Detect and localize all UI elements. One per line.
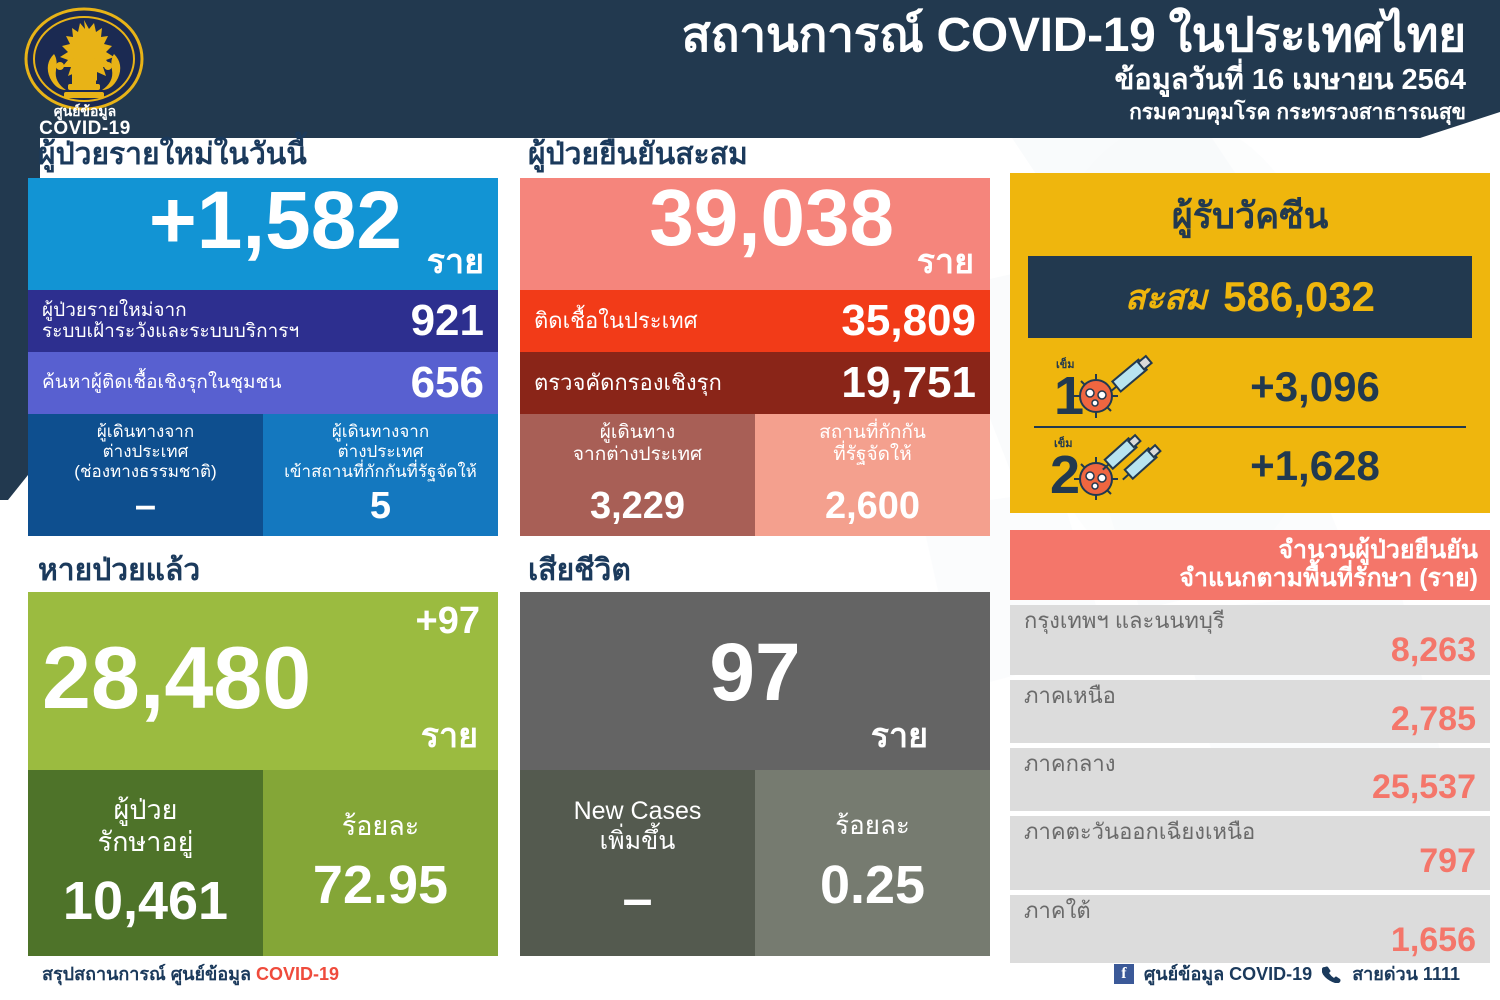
cumulative-domestic-row: ติดเชื้อในประเทศ 35,809 xyxy=(520,290,990,352)
recovered-percent-cell: ร้อยละ 72.95 xyxy=(263,770,498,956)
cumulative-domestic-label: ติดเชื้อในประเทศ xyxy=(534,309,698,334)
region-value: 1,656 xyxy=(1024,923,1476,959)
footer-summary-text: สรุปสถานการณ์ ศูนย์ข้อมูล xyxy=(42,964,256,984)
deaths-unit: ราย xyxy=(871,708,928,762)
vaccination-total-bar: สะสม 586,032 xyxy=(1028,256,1472,338)
deaths-value: 97 xyxy=(520,634,990,712)
label-line-2: เพิ่มขึ้น xyxy=(574,826,702,856)
region-value: 8,263 xyxy=(1024,633,1476,669)
new-cases-active-row: ค้นหาผู้ติดเชื้อเชิงรุกในชุมชน 656 xyxy=(28,352,498,414)
label-line-3: เข้าสถานที่กักกันที่รัฐจัดให้ xyxy=(284,462,477,482)
vaccination-dose1-value: +3,096 xyxy=(1164,363,1466,411)
page-title: สถานการณ์ COVID-19 ในประเทศไทย xyxy=(681,10,1466,62)
arrivals-natural-label: ผู้เดินทางจาก ต่างประเทศ (ช่องทางธรรมชาต… xyxy=(74,422,216,482)
new-cases-surveillance-label: ผู้ป่วยรายใหม่จาก ระบบเฝ้าระวังและระบบบร… xyxy=(42,300,299,343)
emblem-caption: ศูนย์ข้อมูล COVID-19 xyxy=(14,104,156,140)
cumulative-quarantine-cell: สถานที่กักกัน ที่รัฐจัดให้ 2,600 xyxy=(755,414,990,536)
currently-treating-cell: ผู้ป่วย รักษาอยู่ 10,461 xyxy=(28,770,263,956)
vaccination-dose1-row: เข็ม 1 +3,096 xyxy=(1034,348,1466,426)
new-cases-active-value: 656 xyxy=(411,361,484,405)
label-line-1: ผู้ป่วยรายใหม่จาก xyxy=(42,300,299,321)
label-line-2: จากต่างประเทศ xyxy=(573,444,702,466)
cumulative-quarantine-label: สถานที่กักกัน ที่รัฐจัดให้ xyxy=(819,422,926,467)
cumulative-quarantine-value: 2,600 xyxy=(825,485,920,528)
recovered-value: 28,480 xyxy=(42,636,311,720)
region-row: ภาคกลาง 25,537 xyxy=(1010,748,1490,811)
label-line-2: ต่างประเทศ xyxy=(74,442,216,462)
deaths-new-label: New Cases เพิ่มขึ้น xyxy=(574,796,702,856)
new-cases-surveillance-row: ผู้ป่วยรายใหม่จาก ระบบเฝ้าระวังและระบบบร… xyxy=(28,290,498,352)
region-row: กรุงเทพฯ และนนทบุรี 8,263 xyxy=(1010,605,1490,675)
deaths-percent-value: 0.25 xyxy=(820,854,925,916)
recovered-delta: +97 xyxy=(416,600,480,643)
cumulative-value: 39,038 xyxy=(649,180,894,256)
emblem-caption-line2: COVID-19 xyxy=(14,119,156,140)
cumulative-arrivals-cell: ผู้เดินทาง จากต่างประเทศ 3,229 xyxy=(520,414,755,536)
cumulative-domestic-value: 35,809 xyxy=(841,299,976,343)
recovered-unit: ราย xyxy=(421,708,478,762)
footer-summary: สรุปสถานการณ์ ศูนย์ข้อมูล COVID-19 xyxy=(42,959,339,988)
label-line-2: ระบบเฝ้าระวังและระบบบริการฯ xyxy=(42,321,299,342)
arrivals-quarantine-label: ผู้เดินทางจาก ต่างประเทศ เข้าสถานที่กักก… xyxy=(284,422,477,482)
new-cases-hero: +1,582 ราย xyxy=(28,178,498,290)
facebook-icon[interactable]: f xyxy=(1114,964,1134,984)
vaccination-total-value: 586,032 xyxy=(1223,273,1375,321)
regional-header-line-2: จำแนกตามพื้นที่รักษา (ราย) xyxy=(1022,564,1478,592)
deaths-hero: 97 ราย xyxy=(520,592,990,770)
deaths-new-cell: New Cases เพิ่มขึ้น – xyxy=(520,770,755,956)
recovered-percent-value: 72.95 xyxy=(313,854,448,916)
deaths-caption: เสียชีวิต xyxy=(528,556,631,586)
recovered-hero: +97 28,480 ราย xyxy=(28,592,498,770)
currently-treating-value: 10,461 xyxy=(63,870,228,932)
cumulative-arrivals-label: ผู้เดินทาง จากต่างประเทศ xyxy=(573,422,702,467)
svg-text:2: 2 xyxy=(1050,445,1080,501)
footer-summary-brand: COVID-19 xyxy=(256,964,339,984)
cumulative-unit: ราย xyxy=(917,234,974,288)
deaths-percent-label: ร้อยละ xyxy=(835,810,910,841)
vaccination-total-label: สะสม xyxy=(1125,270,1207,324)
label-line-1: New Cases xyxy=(574,796,702,826)
issuing-organization: กรมควบคุมโรค กระทรวงสาธารณสุข xyxy=(681,100,1466,126)
arrivals-natural-value: – xyxy=(135,485,156,528)
label-line-1: สถานที่กักกัน xyxy=(819,422,926,444)
footer-contacts: f ศูนย์ข้อมูล COVID-19 สายด่วน 1111 xyxy=(1114,959,1460,988)
cumulative-hero: 39,038 ราย xyxy=(520,178,990,290)
new-cases-unit: ราย xyxy=(427,234,484,288)
label-line-1: ผู้เดินทางจาก xyxy=(74,422,216,442)
recovered-caption: หายป่วยแล้ว xyxy=(38,556,200,586)
cumulative-screening-label: ตรวจคัดกรองเชิงรุก xyxy=(534,371,722,396)
vaccination-dose2-value: +1,628 xyxy=(1164,442,1466,490)
header-title-block: สถานการณ์ COVID-19 ในประเทศไทย ข้อมูลวัน… xyxy=(681,10,1466,126)
cumulative-arrivals-value: 3,229 xyxy=(590,485,685,528)
arrivals-quarantine-value: 5 xyxy=(370,485,391,528)
garuda-emblem-icon xyxy=(24,6,144,112)
report-date: ข้อมูลวันที่ 16 เมษายน 2564 xyxy=(681,63,1466,98)
deaths-percent-cell: ร้อยละ 0.25 xyxy=(755,770,990,956)
deaths-new-value: – xyxy=(622,868,652,930)
cumulative-caption: ผู้ป่วยยืนยันสะสม xyxy=(528,140,748,170)
regional-header-line-1: จำนวนผู้ป่วยยืนยัน xyxy=(1022,536,1478,564)
region-row: ภาคเหนือ 2,785 xyxy=(1010,680,1490,743)
region-name: ภาคใต้ xyxy=(1024,899,1476,923)
label-line-1: ผู้เดินทาง xyxy=(573,422,702,444)
new-cases-surveillance-value: 921 xyxy=(411,299,484,343)
hotline-label[interactable]: สายด่วน 1111 xyxy=(1352,959,1460,988)
facebook-page-label[interactable]: ศูนย์ข้อมูล COVID-19 xyxy=(1144,959,1312,988)
new-cases-caption: ผู้ป่วยรายใหม่ในวันนี้ xyxy=(38,140,307,170)
new-cases-arrivals-natural: ผู้เดินทางจาก ต่างประเทศ (ช่องทางธรรมชาต… xyxy=(28,414,263,536)
label-line-2: ต่างประเทศ xyxy=(284,442,477,462)
region-value: 797 xyxy=(1024,844,1476,880)
label-line-3: (ช่องทางธรรมชาติ) xyxy=(74,462,216,482)
region-name: ภาคตะวันออกเฉียงเหนือ xyxy=(1024,820,1476,844)
regional-breakdown-header: จำนวนผู้ป่วยยืนยัน จำแนกตามพื้นที่รักษา … xyxy=(1010,530,1490,600)
dose-1-syringe-virus-icon: เข็ม 1 xyxy=(1034,352,1164,422)
label-line-2: ที่รัฐจัดให้ xyxy=(819,444,926,466)
vaccination-title: ผู้รับวัคซีน xyxy=(1010,173,1490,244)
label-line-1: ผู้ป่วย xyxy=(98,794,194,826)
regional-breakdown-panel: จำนวนผู้ป่วยยืนยัน จำแนกตามพื้นที่รักษา … xyxy=(1010,530,1490,955)
region-name: กรุงเทพฯ และนนทบุรี xyxy=(1024,609,1476,633)
new-cases-arrivals-quarantine: ผู้เดินทางจาก ต่างประเทศ เข้าสถานที่กักก… xyxy=(263,414,498,536)
cumulative-screening-value: 19,751 xyxy=(841,361,976,405)
recovered-percent-label: ร้อยละ xyxy=(342,810,420,842)
dose-2-syringe-virus-icon: เข็ม 2 xyxy=(1034,431,1164,501)
region-row: ภาคใต้ 1,656 xyxy=(1010,895,1490,963)
infographic-page: ศูนย์ข้อมูล COVID-19 สถานการณ์ COVID-19 … xyxy=(0,0,1500,1000)
label-line-1: ผู้เดินทางจาก xyxy=(284,422,477,442)
new-cases-active-label: ค้นหาผู้ติดเชื้อเชิงรุกในชุมชน xyxy=(42,372,281,393)
label-line-2: รักษาอยู่ xyxy=(98,826,194,858)
vaccination-panel: ผู้รับวัคซีน สะสม 586,032 เข็ม 1 xyxy=(1010,173,1490,513)
phone-icon xyxy=(1322,965,1342,983)
new-cases-value: +1,582 xyxy=(149,182,402,260)
region-row: ภาคตะวันออกเฉียงเหนือ 797 xyxy=(1010,816,1490,890)
vaccination-dose2-row: เข็ม 2 xyxy=(1034,426,1466,504)
emblem-caption-line1: ศูนย์ข้อมูล xyxy=(14,104,156,119)
cumulative-screening-row: ตรวจคัดกรองเชิงรุก 19,751 xyxy=(520,352,990,414)
currently-treating-label: ผู้ป่วย รักษาอยู่ xyxy=(98,794,194,859)
